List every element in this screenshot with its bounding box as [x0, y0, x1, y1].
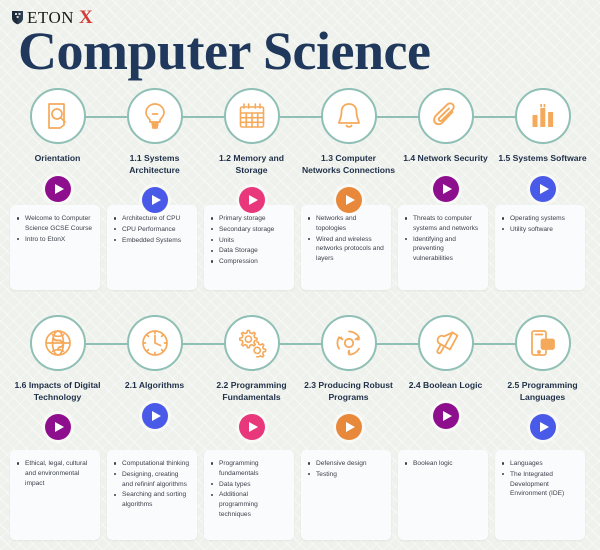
module-card-producing-robust-programs: Defensive designTesting	[301, 450, 391, 540]
magnifier-document-icon	[43, 101, 73, 131]
play-triangle-icon	[55, 422, 64, 432]
play-triangle-icon	[540, 422, 549, 432]
timeline-node-network-security: 1.4 Network Security	[397, 88, 494, 202]
timeline-node-systems-software: 1.5 Systems Software	[494, 88, 591, 202]
module-label: 1.1 Systems Architecture	[106, 153, 203, 176]
topic-list: Threats to computer systems and networks…	[404, 214, 482, 264]
topic-list: Architecture of CPUCPU PerformanceEmbedd…	[113, 214, 191, 245]
topic-item: CPU Performance	[113, 225, 191, 235]
topic-item: Data types	[210, 480, 288, 490]
play-triangle-icon	[443, 184, 452, 194]
bar-chart-icon	[528, 101, 558, 131]
topic-item: Intro to EtonX	[16, 235, 94, 245]
play-triangle-icon	[346, 195, 355, 205]
module-card-boolean-logic: Boolean logic	[398, 450, 488, 540]
timeline-node-impacts-of-digital-technology: 1.6 Impacts of Digital Technology	[9, 315, 106, 440]
timeline-node-orientation: Orientation	[9, 88, 106, 202]
topic-item: Compression	[210, 257, 288, 267]
topic-item: Threats to computer systems and networks	[404, 214, 482, 234]
timeline-node-programming-fundamentals: 2.2 Programming Fundamentals	[203, 315, 300, 440]
timeline-node-boolean-logic: 2.4 Boolean Logic	[397, 315, 494, 429]
module-icon-circle	[30, 315, 86, 371]
play-triangle-icon	[443, 411, 452, 421]
module-card-algorithms: Computational thinkingDesigning, creatin…	[107, 450, 197, 540]
topic-item: Data Storage	[210, 246, 288, 256]
play-button-computer-networks-connections[interactable]	[336, 187, 362, 213]
topic-item: Boolean logic	[404, 459, 482, 469]
topic-item: Units	[210, 236, 288, 246]
module-label: 1.4 Network Security	[397, 153, 494, 165]
topic-item: Operating systems	[501, 214, 579, 224]
timeline-node-systems-architecture: 1.1 Systems Architecture	[106, 88, 203, 213]
play-button-systems-software[interactable]	[530, 176, 556, 202]
timeline-node-algorithms: 2.1 Algorithms	[106, 315, 203, 429]
module-card-programming-languages: LanguagesThe Integrated Development Envi…	[495, 450, 585, 540]
topic-item: Secondary storage	[210, 225, 288, 235]
module-card-systems-architecture: Architecture of CPUCPU PerformanceEmbedd…	[107, 205, 197, 290]
module-label: 1.5 Systems Software	[494, 153, 591, 165]
topic-list: Networks and topologiesWired and wireles…	[307, 214, 385, 264]
topic-item: Architecture of CPU	[113, 214, 191, 224]
topic-item: Testing	[307, 470, 385, 480]
play-triangle-icon	[249, 195, 258, 205]
topic-list: Welcome to Computer Science GCSE CourseI…	[16, 214, 94, 244]
topic-item: Embedded Systems	[113, 236, 191, 246]
globe-icon	[43, 328, 73, 358]
gears-icon	[237, 328, 267, 358]
topic-item: Identifying and preventing vulnerabiliti…	[404, 235, 482, 264]
play-triangle-icon	[152, 411, 161, 421]
play-button-impacts-of-digital-technology[interactable]	[45, 414, 71, 440]
paperclip-icon	[431, 101, 461, 131]
module-card-orientation: Welcome to Computer Science GCSE CourseI…	[10, 205, 100, 290]
topic-item: Networks and topologies	[307, 214, 385, 234]
module-icon-circle	[515, 315, 571, 371]
recycle-circle-icon	[334, 328, 364, 358]
topic-item: Wired and wireless networks protocols an…	[307, 235, 385, 264]
topic-item: Computational thinking	[113, 459, 191, 469]
topic-item: Utility software	[501, 225, 579, 235]
calendar-icon	[237, 101, 267, 131]
module-icon-circle	[224, 88, 280, 144]
play-triangle-icon	[540, 184, 549, 194]
module-icon-circle	[127, 88, 183, 144]
topic-list: LanguagesThe Integrated Development Envi…	[501, 459, 579, 499]
topic-item: The Integrated Development Environment (…	[501, 470, 579, 499]
module-label: 2.3 Producing Robust Programs	[300, 380, 397, 403]
timeline-node-memory-and-storage: 1.2 Memory and Storage	[203, 88, 300, 213]
topic-list: Operating systemsUtility software	[501, 214, 579, 235]
play-triangle-icon	[152, 195, 161, 205]
module-card-systems-software: Operating systemsUtility software	[495, 205, 585, 290]
play-button-network-security[interactable]	[433, 176, 459, 202]
module-card-memory-and-storage: Primary storageSecondary storageUnitsDat…	[204, 205, 294, 290]
module-card-impacts-of-digital-technology: Ethical, legal, cultural and environment…	[10, 450, 100, 540]
topic-item: Defensive design	[307, 459, 385, 469]
module-card-network-security: Threats to computer systems and networks…	[398, 205, 488, 290]
play-triangle-icon	[249, 422, 258, 432]
module-label: 2.1 Algorithms	[106, 380, 203, 392]
module-icon-circle	[127, 315, 183, 371]
play-button-boolean-logic[interactable]	[433, 403, 459, 429]
module-icon-circle	[418, 88, 474, 144]
timeline-node-producing-robust-programs: 2.3 Producing Robust Programs	[300, 315, 397, 440]
bell-icon	[334, 101, 364, 131]
topic-list: Ethical, legal, cultural and environment…	[16, 459, 94, 488]
topic-item: Programming fundamentals	[210, 459, 288, 479]
clock-icon	[140, 328, 170, 358]
module-label: 1.6 Impacts of Digital Technology	[9, 380, 106, 403]
topic-list: Computational thinkingDesigning, creatin…	[113, 459, 191, 510]
module-icon-circle	[418, 315, 474, 371]
topic-list: Programming fundamentalsData typesAdditi…	[210, 459, 288, 520]
play-button-programming-fundamentals[interactable]	[239, 414, 265, 440]
topic-item: Searching and sorting algorithms	[113, 490, 191, 510]
module-icon-circle	[30, 88, 86, 144]
module-card-programming-fundamentals: Programming fundamentalsData typesAdditi…	[204, 450, 294, 540]
topic-list: Boolean logic	[404, 459, 482, 469]
timeline-node-programming-languages: 2.5 Programming Languages	[494, 315, 591, 440]
module-icon-circle	[224, 315, 280, 371]
infographic-page: ETON X Computer Science Orientation1.1 S…	[0, 0, 600, 550]
megaphone-icon	[431, 328, 461, 358]
module-icon-circle	[321, 88, 377, 144]
module-label: Orientation	[9, 153, 106, 165]
play-button-systems-architecture[interactable]	[142, 187, 168, 213]
play-button-memory-and-storage[interactable]	[239, 187, 265, 213]
play-triangle-icon	[55, 184, 64, 194]
play-button-programming-languages[interactable]	[530, 414, 556, 440]
module-icon-circle	[321, 315, 377, 371]
play-triangle-icon	[346, 422, 355, 432]
topic-item: Languages	[501, 459, 579, 469]
topic-list: Primary storageSecondary storageUnitsDat…	[210, 214, 288, 267]
module-label: 1.3 Computer Networks Connections	[300, 153, 397, 176]
play-button-producing-robust-programs[interactable]	[336, 414, 362, 440]
module-card-computer-networks-connections: Networks and topologiesWired and wireles…	[301, 205, 391, 290]
topic-item: Welcome to Computer Science GCSE Course	[16, 214, 94, 234]
play-button-orientation[interactable]	[45, 176, 71, 202]
topic-item: Ethical, legal, cultural and environment…	[16, 459, 94, 488]
module-label: 1.2 Memory and Storage	[203, 153, 300, 176]
timeline-node-computer-networks-connections: 1.3 Computer Networks Connections	[300, 88, 397, 213]
module-label: 2.5 Programming Languages	[494, 380, 591, 403]
module-label: 2.4 Boolean Logic	[397, 380, 494, 392]
topic-item: Primary storage	[210, 214, 288, 224]
mobile-devices-icon	[528, 328, 558, 358]
topic-item: Designing, creating and refininf algorit…	[113, 470, 191, 490]
page-title: Computer Science	[18, 22, 430, 80]
topic-list: Defensive designTesting	[307, 459, 385, 480]
module-label: 2.2 Programming Fundamentals	[203, 380, 300, 403]
topic-item: Additional programming techniques	[210, 490, 288, 519]
play-button-algorithms[interactable]	[142, 403, 168, 429]
module-icon-circle	[515, 88, 571, 144]
lightbulb-icon	[140, 101, 170, 131]
